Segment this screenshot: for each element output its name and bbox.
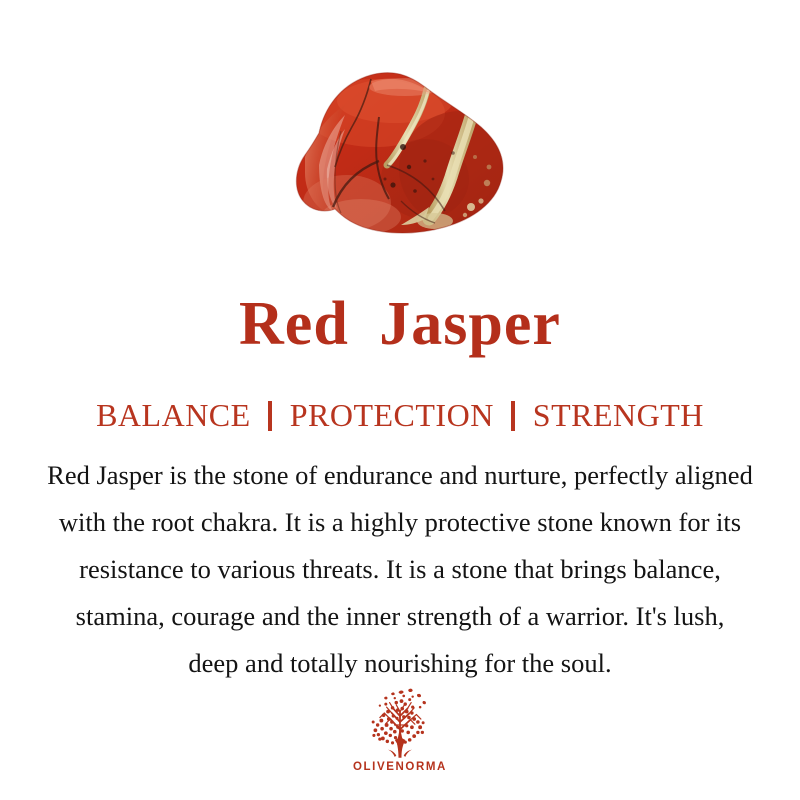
keyword-list: BALANCE PROTECTION STRENGTH <box>0 395 800 435</box>
page-title: Red Jasper <box>0 288 800 360</box>
keyword-protection: PROTECTION <box>290 397 494 433</box>
keyword-separator-1 <box>268 401 272 431</box>
keyword-strength: STRENGTH <box>533 397 704 433</box>
description-line: Red Jasper is the stone of endurance and… <box>12 452 788 499</box>
description-text: Red Jasper is the stone of endurance and… <box>12 452 788 687</box>
description-line: deep and totally nourishing for the soul… <box>12 640 788 687</box>
brand-logo: OLIVENORMA <box>0 686 800 773</box>
product-image-container <box>0 56 800 256</box>
keyword-balance: BALANCE <box>96 397 251 433</box>
olivenorma-tree-icon <box>359 686 441 758</box>
product-info-card: Red Jasper BALANCE PROTECTION STRENGTH R… <box>0 0 800 800</box>
description-line: resistance to various threats. It is a s… <box>12 546 788 593</box>
description-line: with the root chakra. It is a highly pro… <box>12 499 788 546</box>
brand-wordmark: OLIVENORMA <box>353 761 447 773</box>
red-jasper-stone-icon <box>275 61 525 251</box>
description-line: stamina, courage and the inner strength … <box>12 593 788 640</box>
keyword-separator-2 <box>511 401 515 431</box>
